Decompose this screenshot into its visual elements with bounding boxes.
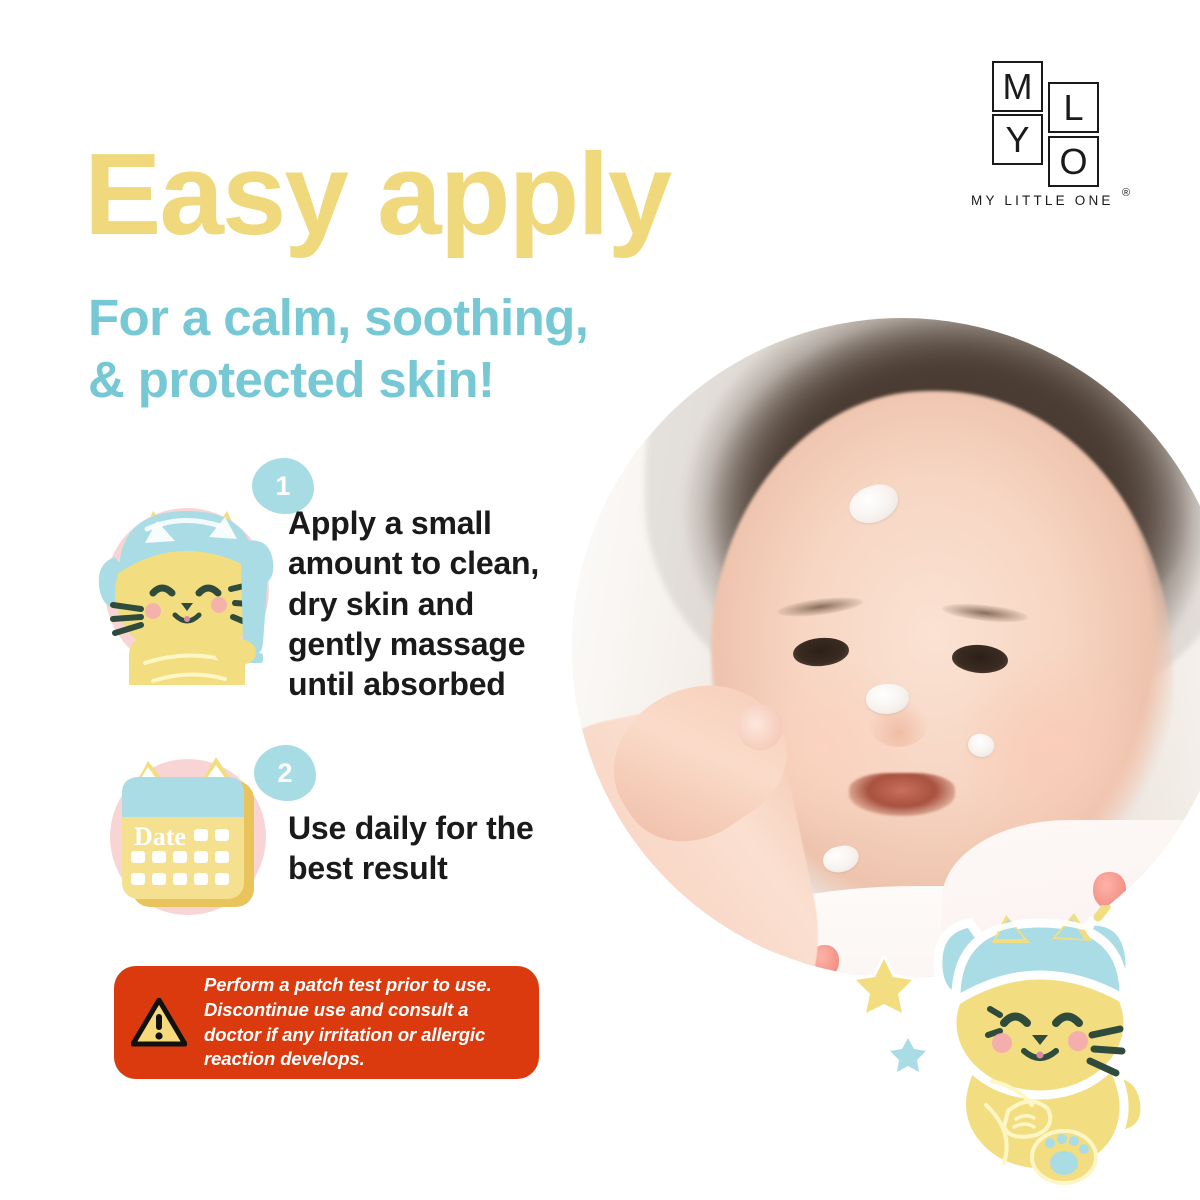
warning-banner: Perform a patch test prior to use. Disco… [114,966,539,1079]
sitting-cat-mascot [900,905,1180,1195]
warning-triangle-icon [114,998,204,1048]
logo-wordmark: MY LITTLE ONE [971,193,1114,208]
logo-letter-o: O [1048,136,1099,187]
page-title: Easy apply [84,136,670,252]
step-2-number: 2 [277,758,292,789]
logo-letter-l: L [1048,82,1099,133]
registered-trademark-icon: ® [1122,187,1130,199]
promo-canvas: M L Y O MY LITTLE ONE ® Easy apply For a… [0,0,1200,1200]
subtitle-line-1: For a calm, soothing, [88,287,588,349]
subtitle-line-2: & protected skin! [88,349,588,411]
step-2-badge: 2 [254,745,316,801]
cat-with-cream-tube-icon [95,485,285,690]
calendar-cat-icon: Date [100,745,280,930]
step-2-text: Use daily for the best result [288,808,538,889]
logo-letter-y: Y [992,114,1043,165]
logo-letter-m: M [992,61,1043,112]
brand-logo: M L Y O MY LITTLE ONE ® [975,55,1150,225]
calendar-date-label: Date [134,822,186,851]
step-1-text: Apply a small amount to clean, dry skin … [288,503,556,705]
step-1-number: 1 [275,471,290,502]
baby-photo [572,318,1200,978]
warning-text: Perform a patch test prior to use. Disco… [204,973,539,1073]
page-subtitle: For a calm, soothing, & protected skin! [88,287,588,411]
